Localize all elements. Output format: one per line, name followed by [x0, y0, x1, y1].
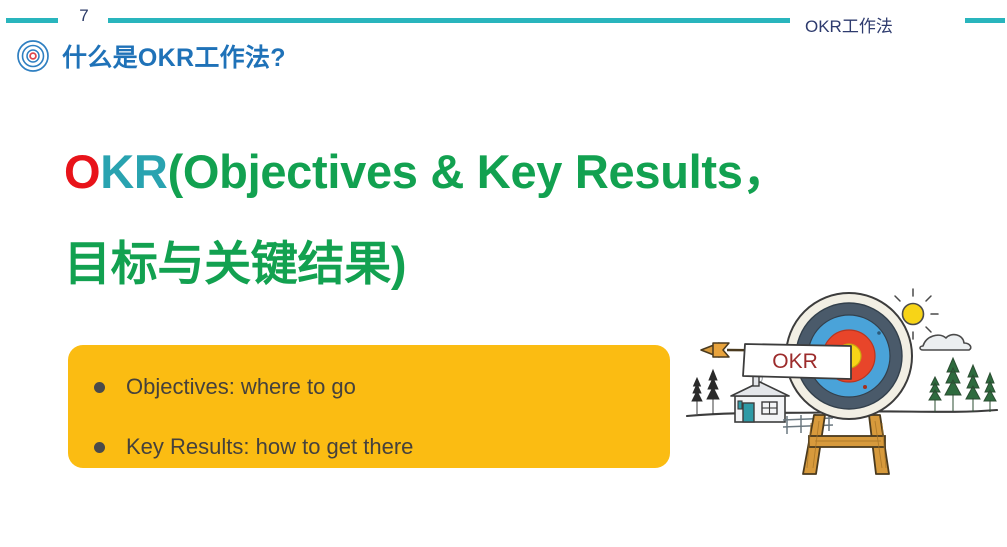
cloud-icon	[920, 335, 971, 350]
house-icon	[731, 376, 789, 422]
flag-okr-label: OKR	[772, 350, 818, 373]
pine-trees-right	[929, 358, 996, 412]
section-title-label: 什么是OKR工作法?	[62, 38, 286, 74]
callout-item-label: Key Results: how to get there	[126, 434, 413, 460]
headline-letters-kr: KR	[100, 145, 167, 198]
callout-item: Key Results: how to get there	[94, 423, 670, 471]
top-rule-left	[6, 18, 58, 23]
top-rule-right	[965, 18, 1005, 23]
target-rings-icon	[16, 39, 50, 73]
section-title: 什么是OKR工作法?	[16, 38, 286, 74]
callout-item: Objectives: where to go	[94, 363, 670, 411]
callout-item-label: Objectives: where to go	[126, 374, 356, 400]
bullet-icon	[94, 382, 105, 393]
headline-line1-rest: (Objectives & Key Results，	[168, 145, 790, 198]
slide-number: 7	[68, 6, 100, 26]
archery-target-illustration: OKR	[683, 288, 1001, 484]
slide-canvas: 7 OKR工作法 什么是OKR工作法? OKR(Objectives & Key…	[0, 0, 1007, 547]
bullet-icon	[94, 442, 105, 453]
pine-trees-left	[692, 370, 719, 414]
easel-stand	[803, 415, 889, 474]
top-rule-middle	[108, 18, 790, 23]
header-topic-label: OKR工作法	[805, 12, 893, 37]
headline-line-1: OKR(Objectives & Key Results，	[64, 126, 944, 218]
headline-letter-o: O	[64, 145, 100, 198]
arrow-with-flag: OKR	[701, 343, 851, 379]
callout-box: Objectives: where to go Key Results: how…	[68, 345, 670, 468]
headline-block: OKR(Objectives & Key Results， 目标与关键结果)	[64, 126, 944, 310]
